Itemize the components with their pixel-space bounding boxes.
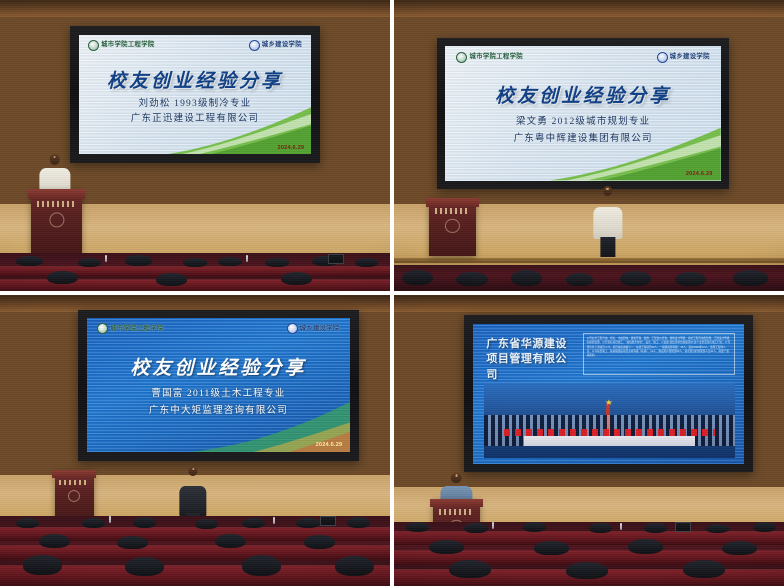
laptop — [675, 522, 691, 532]
school-seal-icon — [657, 52, 668, 63]
podium — [31, 189, 82, 253]
audience-head — [133, 517, 156, 528]
speaker-head — [188, 467, 197, 476]
audience-rows — [0, 516, 390, 586]
audience-head — [183, 258, 206, 266]
photo-panel-top-right: 城市学院工程学院 城乡建设学院 校友创业经验分享 梁文勇 2012级城市规划专业… — [394, 0, 784, 291]
water-bottle — [273, 517, 275, 524]
speaker-head — [603, 186, 613, 196]
logo-university: 城市学院工程学院 — [88, 40, 155, 51]
water-bottle — [109, 516, 111, 523]
slide-title: 校友创业经验分享 — [445, 81, 720, 108]
audience-rows — [394, 265, 784, 291]
university-seal-icon — [88, 40, 99, 51]
audience-head — [675, 272, 706, 286]
audience-head — [429, 540, 464, 554]
audience-head — [722, 541, 757, 555]
audience-head — [534, 541, 569, 554]
company-title: 广东省华源建设项目管理有限公司 — [486, 337, 573, 385]
audience-rows — [394, 522, 784, 586]
slide-title: 校友创业经验分享 — [79, 66, 311, 93]
laptop — [328, 254, 344, 264]
speaker-head — [49, 154, 60, 165]
audience-head — [620, 271, 651, 286]
audience-head — [117, 536, 148, 549]
logo-left-label: 城市学院工程学院 — [110, 326, 164, 332]
logo-school: 城乡建设学院 — [657, 52, 710, 63]
banner-red-text — [504, 429, 715, 436]
slide-date-stamp: 2024.6.29 — [686, 171, 713, 177]
audience-head — [347, 517, 370, 528]
audience-head — [566, 273, 593, 287]
water-bottle — [246, 255, 248, 262]
slide-company-line: 广东正迅建设工程有限公司 — [79, 110, 311, 124]
audience-head — [628, 539, 663, 554]
logo-university: 城市学院工程学院 — [97, 323, 164, 334]
audience-head — [449, 560, 492, 578]
laptop — [320, 516, 336, 526]
university-seal-icon — [456, 52, 467, 63]
audience-head — [753, 522, 776, 532]
slide-date-stamp: 2024.6.29 — [278, 145, 305, 151]
podium-nameplate — [439, 509, 475, 515]
logo-right-label: 城乡建设学院 — [670, 54, 710, 60]
audience-head — [265, 258, 288, 267]
logo-left-label: 城市学院工程学院 — [101, 42, 155, 48]
school-seal-icon — [249, 40, 260, 51]
projection-screen: 广东省华源建设项目管理有限公司 公司业务工程咨询、招标、市政园林、建筑环保、装修… — [473, 324, 744, 464]
projection-screen: 城市学院工程学院 城乡建设学院 校友创业经验分享 刘劲松 1993级制冷专业 广… — [79, 35, 311, 155]
stage-edge — [394, 258, 784, 264]
audience-head — [304, 535, 335, 549]
photo-panel-top-left: 城市学院工程学院 城乡建设学院 校友创业经验分享 刘劲松 1993级制冷专业 广… — [0, 0, 390, 291]
photo-collage: 城市学院工程学院 城乡建设学院 校友创业经验分享 刘劲松 1993级制冷专业 广… — [0, 0, 784, 588]
podium-nameplate — [37, 201, 76, 207]
slide-date-stamp: 2024.6.29 — [316, 442, 343, 448]
speaker-face — [455, 474, 457, 476]
group-photo — [484, 383, 735, 459]
audience-head — [523, 522, 546, 532]
photo-panel-bottom-right: 广东省华源建设项目管理有限公司 公司业务工程咨询、招标、市政园林、建筑环保、装修… — [394, 295, 784, 586]
podium-emblem-icon — [49, 212, 64, 227]
slide-presenter-line: 刘劲松 1993级制冷专业 — [79, 95, 311, 109]
audience-head — [456, 272, 487, 286]
projection-screen: 城市学院工程学院 城乡建设学院 校友创业经验分享 梁文勇 2012级城市规划专业… — [445, 46, 720, 180]
slide-logo-row: 城市学院工程学院 城乡建设学院 — [88, 40, 302, 51]
logo-school: 城乡建设学院 — [249, 40, 302, 51]
logo-school: 城乡建设学院 — [287, 323, 340, 334]
audience-head — [335, 556, 374, 576]
podium — [429, 198, 476, 256]
audience-head — [218, 257, 241, 266]
speaker-face — [53, 156, 55, 158]
audience-head — [156, 273, 187, 286]
slide-logo-row: 城市学院工程学院 城乡建设学院 — [456, 52, 709, 63]
audience-head — [644, 523, 667, 533]
speaker-head — [451, 473, 462, 484]
audience-head — [355, 258, 378, 267]
audience-head — [16, 518, 39, 528]
audience-head — [242, 518, 265, 528]
audience-head — [296, 518, 319, 528]
audience-head — [215, 534, 246, 549]
audience-head — [242, 555, 281, 576]
podium-nameplate — [59, 480, 89, 486]
logo-right-label: 城乡建设学院 — [262, 42, 302, 48]
audience-head — [195, 519, 218, 529]
audience-seating — [394, 522, 784, 586]
speaker-legs — [600, 237, 615, 258]
audience-head — [47, 271, 78, 284]
audience-head — [16, 256, 43, 266]
projection-screen: 城市学院工程学院 城乡建设学院 校友创业经验分享 曹国富 2011级土木工程专业… — [87, 318, 351, 452]
audience-seating — [0, 516, 390, 586]
audience-head — [125, 557, 164, 577]
ceremony-banner — [524, 436, 695, 447]
slide-company-line: 广东粤中辉建设集团有限公司 — [445, 130, 720, 144]
logo-left-label: 城市学院工程学院 — [469, 54, 523, 60]
speaker-face — [192, 468, 194, 470]
podium-top — [430, 499, 482, 508]
water-bottle — [105, 255, 107, 262]
audience-head — [125, 255, 152, 266]
audience-head — [683, 560, 726, 579]
podium-emblem-icon — [68, 490, 80, 502]
university-seal-icon — [97, 323, 108, 334]
slide-presenter-line: 曹国富 2011级土木工程专业 — [87, 385, 351, 399]
projection-screen-bezel: 广东省华源建设项目管理有限公司 公司业务工程咨询、招标、市政园林、建筑环保、装修… — [464, 315, 753, 472]
podium-top — [52, 470, 96, 478]
audience-head — [464, 523, 487, 533]
podium-nameplate — [435, 208, 471, 214]
projection-screen-bezel: 城市学院工程学院 城乡建设学院 校友创业经验分享 刘劲松 1993级制冷专业 广… — [70, 26, 320, 163]
audience-head — [733, 270, 768, 286]
speaker-face — [606, 188, 608, 190]
audience-head — [402, 270, 433, 286]
audience-head — [39, 534, 70, 548]
audience-head — [566, 562, 609, 579]
slide-title: 校友创业经验分享 — [87, 353, 351, 380]
logo-university: 城市学院工程学院 — [456, 52, 523, 63]
audience-seating — [394, 265, 784, 291]
audience-head — [589, 523, 612, 533]
projection-screen-bezel: 城市学院工程学院 城乡建设学院 校友创业经验分享 曹国富 2011级土木工程专业… — [78, 310, 359, 461]
company-body-text: 公司业务工程咨询、招标、市政园林、建筑环保、装修、工程造价咨询、建筑设计甲级、房… — [583, 333, 735, 375]
projection-screen-bezel: 城市学院工程学院 城乡建设学院 校友创业经验分享 梁文勇 2012级城市规划专业… — [437, 38, 730, 189]
water-bottle — [492, 522, 494, 529]
audience-seating — [0, 253, 390, 291]
audience-head — [281, 272, 312, 285]
audience-head — [23, 555, 62, 575]
school-seal-icon — [287, 323, 298, 334]
podium-top — [28, 189, 85, 199]
audience-rows — [0, 253, 390, 291]
speaker-figure — [593, 186, 622, 256]
audience-head — [511, 270, 542, 286]
logo-right-label: 城乡建设学院 — [300, 326, 340, 332]
slide-presenter-line: 梁文勇 2012级城市规划专业 — [445, 113, 720, 127]
audience-head — [406, 522, 429, 532]
podium-emblem-icon — [445, 219, 459, 233]
slide-logo-row: 城市学院工程学院 城乡建设学院 — [97, 323, 340, 334]
slide-company-line: 广东中大矩监理咨询有限公司 — [87, 402, 351, 416]
audience-head — [82, 518, 105, 528]
water-bottle — [620, 523, 622, 530]
audience-head — [706, 524, 729, 533]
speaker-torso — [593, 207, 622, 238]
photo-panel-bottom-left: 城市学院工程学院 城乡建设学院 校友创业经验分享 曹国富 2011级土木工程专业… — [0, 295, 390, 586]
audience-head — [78, 258, 101, 267]
podium-top — [426, 198, 478, 207]
